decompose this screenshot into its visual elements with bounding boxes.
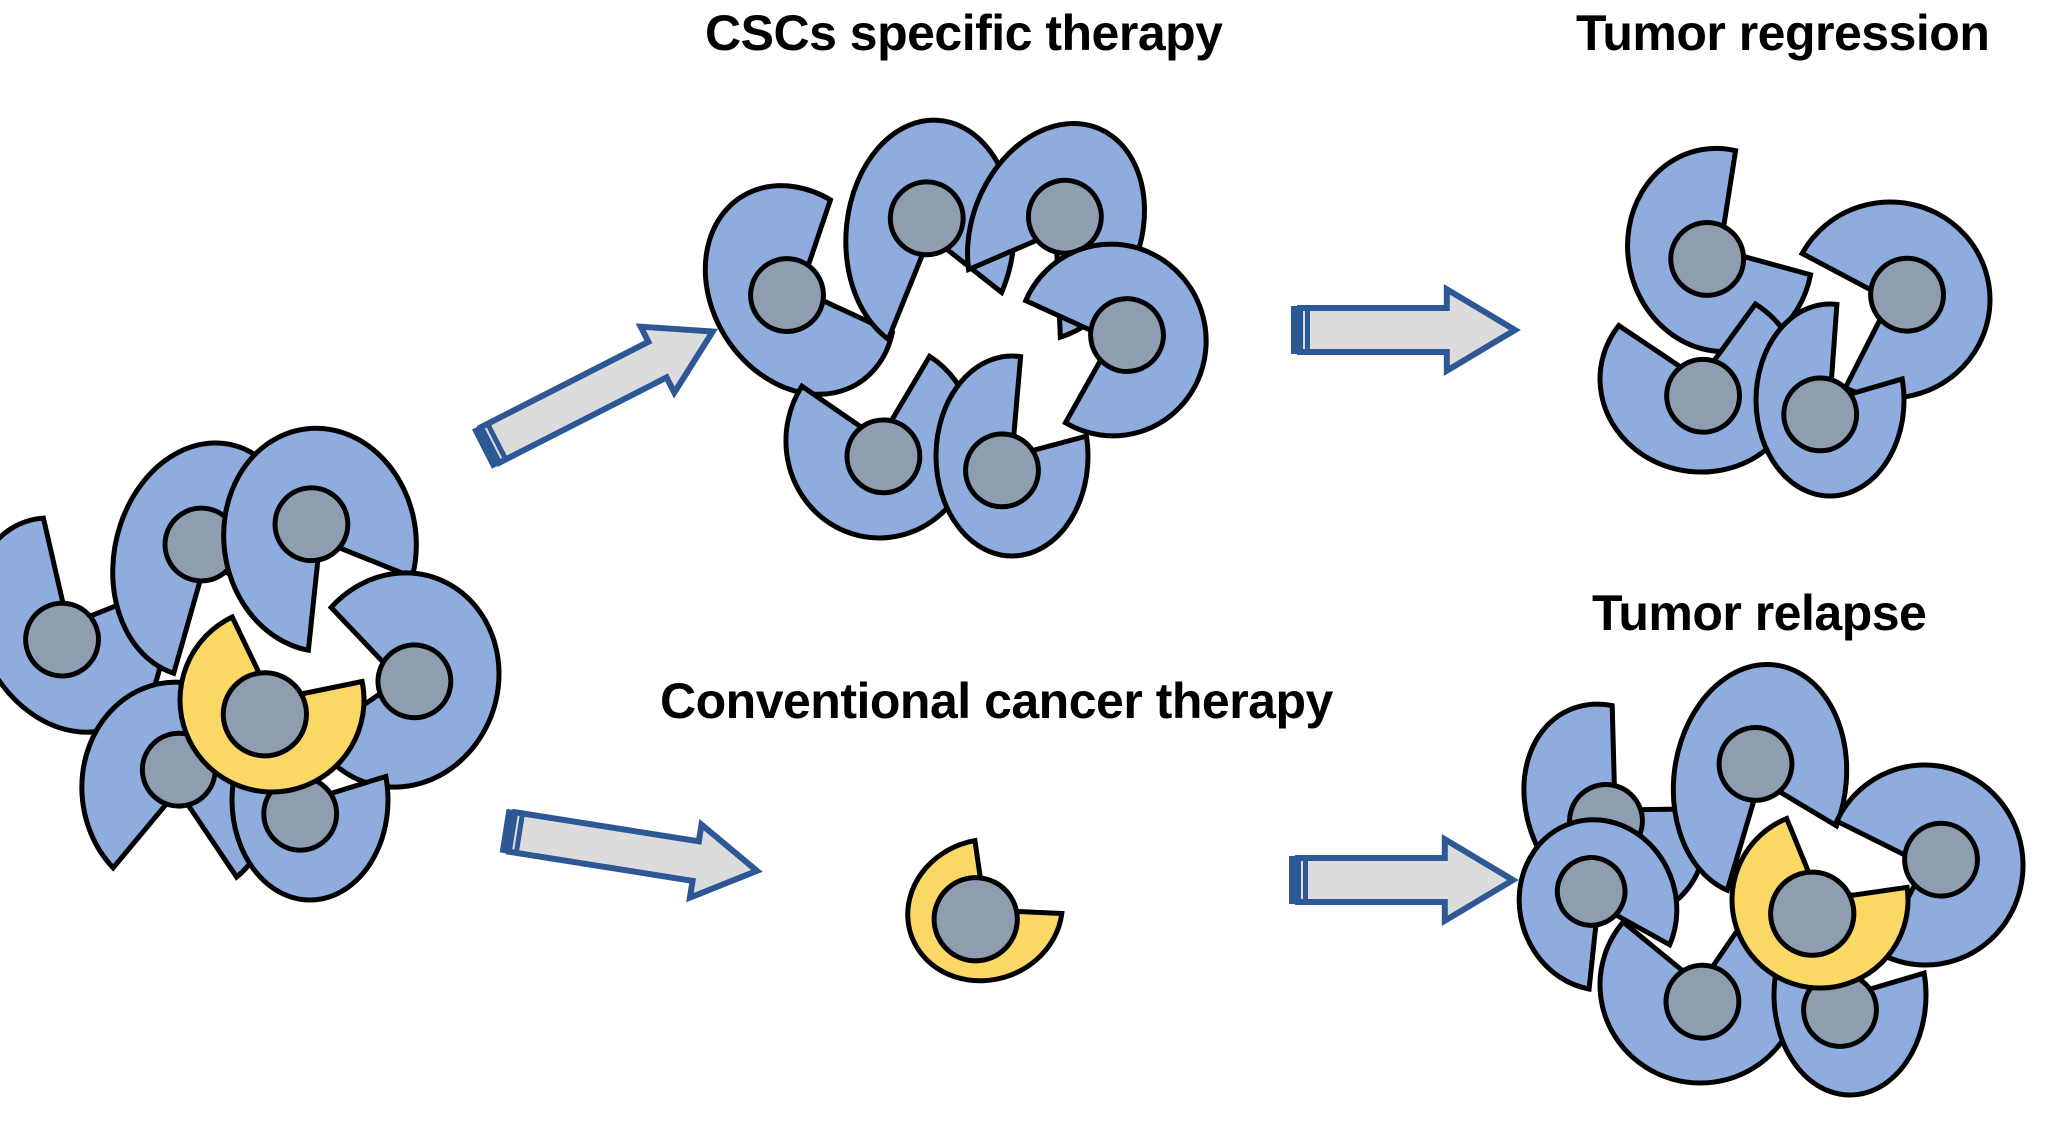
diagram-canvas <box>0 0 2053 1142</box>
cell-nucleus <box>888 179 966 257</box>
arrow-tail-stripe <box>1303 857 1308 903</box>
cell-nucleus <box>966 434 1039 507</box>
cell-nucleus <box>1664 357 1742 435</box>
cell-nucleus <box>1868 256 1946 334</box>
arrow-tail-stripe <box>1305 307 1310 353</box>
arrow-tail-cap <box>1289 856 1299 904</box>
label-conventional-cancer-therapy: Conventional cancer therapy <box>660 676 1333 726</box>
cell-nucleus <box>1784 378 1857 451</box>
label-csc-specific-therapy: CSCs specific therapy <box>705 8 1222 58</box>
label-tumor-relapse: Tumor relapse <box>1592 588 1926 638</box>
cell-nucleus <box>1664 963 1742 1041</box>
arrow-tail-cap <box>1291 306 1301 354</box>
label-tumor-regression: Tumor regression <box>1576 8 1989 58</box>
